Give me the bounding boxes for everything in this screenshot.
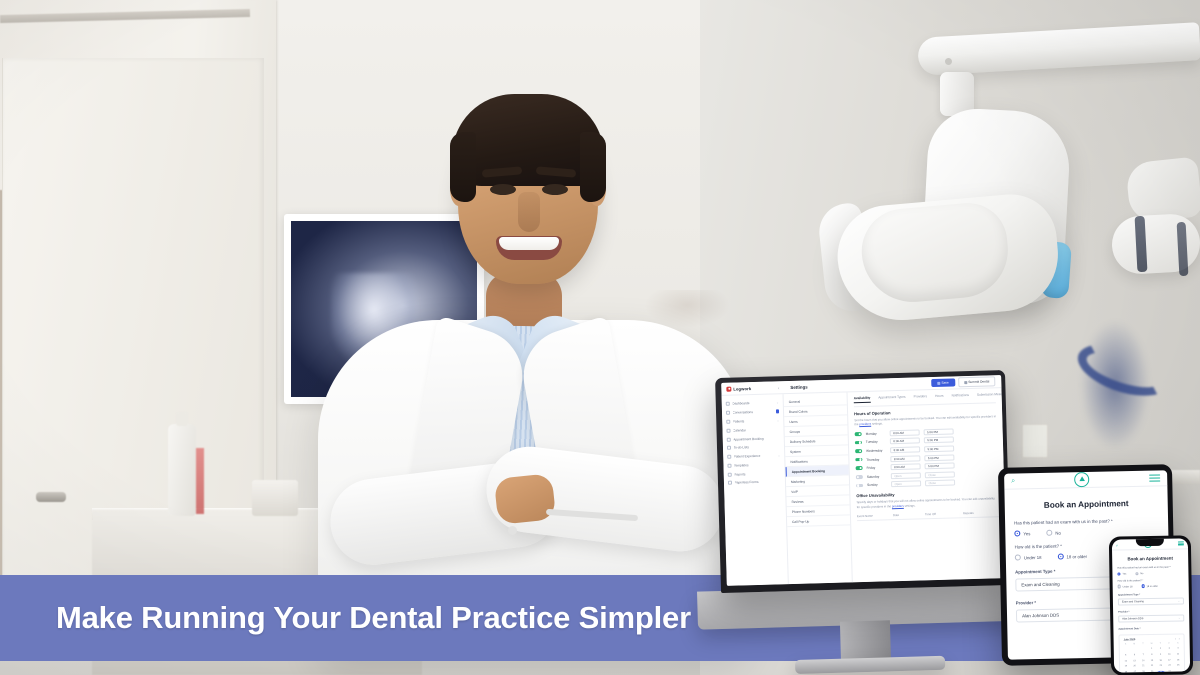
close-time-field[interactable]: Close xyxy=(925,471,955,478)
calendar-month-label: July 2020 xyxy=(1124,638,1136,641)
calendar-day[interactable]: 7 xyxy=(1139,654,1147,657)
open-time-field[interactable]: Open xyxy=(891,481,921,488)
calendar-day[interactable]: 22 xyxy=(1148,665,1156,668)
calendar-day[interactable]: 20 xyxy=(1131,665,1139,668)
clock-icon xyxy=(727,437,731,441)
users-icon xyxy=(726,420,730,424)
calendar-day[interactable]: 12 xyxy=(1122,660,1130,663)
phone-booking-heading: Book an Appointment xyxy=(1112,555,1188,561)
calendar-day[interactable]: 24 xyxy=(1166,664,1174,667)
sidebar-item-label: Templates xyxy=(734,463,749,467)
unav-desc-line2-post: settings. xyxy=(904,504,916,508)
calendar-day[interactable]: 13 xyxy=(1131,659,1139,662)
calendar-week-row: 19 20 21 22 23 24 25 xyxy=(1122,664,1182,668)
chevron-down-icon: ⌄ xyxy=(777,418,780,422)
tab-notifications[interactable]: Notifications xyxy=(952,393,970,400)
calendar-day[interactable]: 3 xyxy=(1165,647,1173,650)
phone-mockup: ⌕ ⛰ Book an Appointment Has this patient… xyxy=(1109,535,1193,675)
close-time-field[interactable]: 5:00 PM xyxy=(924,446,954,453)
hamburger-menu-icon[interactable] xyxy=(1178,541,1184,545)
booking-header-bar: ⌕ ⛰ xyxy=(1004,470,1167,489)
calendar-day[interactable]: 17 xyxy=(1165,659,1173,662)
calendar-day[interactable]: 16 xyxy=(1157,659,1165,662)
calendar-day[interactable]: 21 xyxy=(1139,665,1147,668)
day-toggle[interactable] xyxy=(855,458,862,462)
chevron-right-icon[interactable]: › xyxy=(1179,637,1180,640)
chevron-down-icon: ⌄ xyxy=(778,453,781,457)
phone-radio-exam-no[interactable]: No xyxy=(1135,572,1143,576)
app-brand: Legwork ‹ xyxy=(721,385,783,392)
radio-dot-selected xyxy=(1117,572,1120,575)
radio-label: 18 or older xyxy=(1066,553,1087,558)
hours-section-description: Set the hours that you allow online appo… xyxy=(854,414,996,428)
providers-link[interactable]: providers xyxy=(892,504,904,508)
phone-screen: ⌕ ⛰ Book an Appointment Has this patient… xyxy=(1112,538,1190,672)
calendar-header: July 2020 ‹ › xyxy=(1122,637,1182,641)
prior-exam-radio-group: Yes No xyxy=(1014,527,1159,536)
day-label: Saturday xyxy=(867,474,887,479)
day-toggle[interactable] xyxy=(856,484,863,488)
calendar-dow-row: S M T W T F S xyxy=(1122,643,1182,646)
calendar-day[interactable]: 18 xyxy=(1174,659,1182,662)
legwork-logo-icon xyxy=(726,386,731,391)
hero-image: Make Running Your Dental Practice Simple… xyxy=(0,0,1200,675)
calendar-day[interactable]: 5 xyxy=(1122,654,1130,657)
app-header-actions: Save Summit Dental xyxy=(931,377,1002,388)
calendar-day[interactable]: 6 xyxy=(1131,654,1139,657)
sidebar-item-label: Conversations xyxy=(732,410,752,415)
day-toggle[interactable] xyxy=(855,432,862,436)
template-icon xyxy=(727,464,731,468)
save-button[interactable]: Save xyxy=(931,379,955,387)
radio-dot xyxy=(1118,585,1121,588)
sidebar-item-label: Paperless Forms xyxy=(734,480,758,485)
radio-label: No xyxy=(1055,530,1061,535)
app-body: Dashboards ⌄ Conversations xyxy=(722,388,1007,586)
form-icon xyxy=(728,481,732,485)
open-time-field[interactable]: Open xyxy=(891,472,921,479)
calendar-day[interactable]: 2 xyxy=(1157,648,1165,651)
mountain-logo-icon: ⛰ xyxy=(1075,472,1090,487)
settings-content: Availability Appointment Types Providers… xyxy=(848,388,1007,582)
monitor-screen: Legwork ‹ Settings Save xyxy=(721,375,1007,586)
sidebar-item-label: Appointment Booking xyxy=(733,436,763,441)
heart-icon xyxy=(727,455,731,459)
date-picker-calendar: July 2020 ‹ › S M T W xyxy=(1118,633,1185,672)
sidebar-item-label: Calendar xyxy=(733,428,746,432)
calendar-day[interactable]: 4 xyxy=(1174,647,1182,650)
phone-age-radio-group: Under 18 18 or older xyxy=(1118,584,1184,589)
unavailability-table-header: Event Name Date Time Off Repeats xyxy=(857,511,999,522)
chat-icon xyxy=(726,411,730,415)
settings-submenu: General Brand Colors Users Groups Delive… xyxy=(784,392,853,584)
close-time-field[interactable]: 5:00 PM xyxy=(924,454,954,461)
column-repeats: Repeats xyxy=(963,511,993,516)
calendar-day[interactable]: 23 xyxy=(1157,665,1165,668)
radio-dot-selected xyxy=(1141,584,1144,587)
legwork-settings-app: Legwork ‹ Settings Save xyxy=(721,375,1007,586)
calendar-week-row: 26 27 28 29 30 31 xyxy=(1122,670,1182,673)
close-time-field[interactable]: 5:00 PM xyxy=(924,428,954,435)
close-time-field[interactable]: 5:00 PM xyxy=(925,463,955,470)
search-icon[interactable]: ⌕ xyxy=(1011,477,1015,485)
calendar-day[interactable]: 26 xyxy=(1122,671,1130,673)
calendar-nav: ‹ › xyxy=(1175,637,1180,640)
tab-submission-message[interactable]: Submission Message xyxy=(977,392,1007,400)
radio-exam-yes[interactable]: Yes xyxy=(1014,530,1030,536)
open-time-field[interactable]: 8:00 AM xyxy=(890,455,920,462)
practice-selector-label: Summit Dental xyxy=(968,379,989,384)
day-label: Tuesday xyxy=(866,440,886,445)
tab-hours[interactable]: Hours xyxy=(935,394,944,401)
radio-age-under-18[interactable]: Under 18 xyxy=(1015,554,1042,561)
calendar-week-row: 5 6 7 8 9 10 11 xyxy=(1122,653,1182,657)
dow-label: T xyxy=(1139,643,1147,645)
radio-label: Yes xyxy=(1122,572,1126,575)
open-time-field[interactable]: 8:00 AM xyxy=(890,429,920,436)
day-toggle[interactable] xyxy=(855,449,862,453)
settings-item-call-popup[interactable]: Call Pop-Up xyxy=(787,515,850,527)
save-button-label: Save xyxy=(941,381,948,385)
page-title: Settings xyxy=(783,384,807,390)
phone-appointment-type-label: Appointment Type * xyxy=(1118,592,1184,596)
phone-radio-age-under-18[interactable]: Under 18 xyxy=(1118,585,1133,589)
mountain-glyph: ⛰ xyxy=(1079,476,1085,483)
sidebar-item-paperless-forms[interactable]: Paperless Forms xyxy=(724,477,785,487)
chevron-left-icon[interactable]: ‹ xyxy=(1175,637,1176,640)
day-label: Monday xyxy=(866,431,886,436)
phone-booking-form: Has this patient had an exam with us in … xyxy=(1112,565,1190,672)
day-toggle[interactable] xyxy=(856,466,863,470)
sidebar-item-label: Dashboards xyxy=(732,402,749,406)
check-icon xyxy=(727,446,731,450)
calendar-day-selected[interactable]: 30 xyxy=(1157,670,1165,672)
calendar-day[interactable]: 31 xyxy=(1166,670,1174,673)
calendar-day[interactable]: 11 xyxy=(1174,653,1182,656)
question-prior-exam: Has this patient had an exam with us in … xyxy=(1014,517,1159,525)
radio-label: Under 18 xyxy=(1123,585,1133,588)
day-label: Thursday xyxy=(866,457,886,462)
hours-desc-line2-post: settings. xyxy=(871,422,883,426)
sidebar-item-label: Patients xyxy=(733,419,745,423)
close-time-field[interactable]: 5:00 PM xyxy=(924,437,954,444)
calendar-day[interactable]: 19 xyxy=(1122,665,1130,668)
unread-badge xyxy=(776,410,779,413)
tab-appointment-types[interactable]: Appointment Types xyxy=(878,395,905,403)
phone-radio-exam-yes[interactable]: Yes xyxy=(1117,572,1126,576)
dow-label: S xyxy=(1174,643,1182,645)
phone-provider-label: Provider * xyxy=(1118,609,1184,613)
open-time-field[interactable]: 8:00 AM xyxy=(890,438,920,445)
hours-desc-line1: Set the hours that you allow online appo… xyxy=(854,414,970,421)
home-icon xyxy=(726,402,730,406)
hours-row: Sunday Open Close xyxy=(856,479,998,489)
appointment-type-value: Exam and Cleaning xyxy=(1021,582,1059,588)
phone-body: ⌕ ⛰ Book an Appointment Has this patient… xyxy=(1109,535,1193,675)
phone-appointment-type-select[interactable]: Exam and Cleaning ⌄ xyxy=(1118,597,1184,605)
dow-label: M xyxy=(1130,644,1138,646)
sidebar-item-label: Reports xyxy=(734,472,745,476)
calendar-day xyxy=(1130,648,1138,651)
radio-label: 18 or older xyxy=(1146,584,1157,587)
main-sidebar: Dashboards ⌄ Conversations xyxy=(722,394,789,586)
calendar-day[interactable]: 25 xyxy=(1174,664,1182,667)
calendar-day xyxy=(1139,648,1147,651)
sidebar-item-label: To-do Lists xyxy=(733,445,749,449)
calendar-day xyxy=(1122,648,1130,651)
settings-tabs: Availability Appointment Types Providers… xyxy=(854,392,996,406)
column-event-name: Event Name xyxy=(857,513,893,518)
calendar-day[interactable]: 29 xyxy=(1148,670,1156,672)
radio-dot xyxy=(1015,554,1021,560)
unavailability-description: Specify days or holidays that you will n… xyxy=(857,497,999,511)
chevron-down-icon: ⌄ xyxy=(1178,599,1180,602)
office-unavailability-section: Office Unavailability Specify days or ho… xyxy=(856,490,999,522)
calendar-day[interactable]: 9 xyxy=(1157,653,1165,656)
calendar-week-row: 1 2 3 4 xyxy=(1122,647,1182,651)
calendar-day[interactable]: 8 xyxy=(1148,653,1156,656)
provider-value: Alan Johnson DDS xyxy=(1022,613,1059,619)
calendar-day[interactable]: 28 xyxy=(1140,671,1148,673)
provider-value: Alan Johnson DDS xyxy=(1122,617,1143,620)
dow-label: T xyxy=(1157,643,1165,645)
calendar-week-row: 12 13 14 15 16 17 18 xyxy=(1122,659,1182,663)
radio-dot xyxy=(1135,572,1138,575)
calendar-day[interactable]: 27 xyxy=(1131,671,1139,673)
booking-heading: Book an Appointment xyxy=(1005,498,1168,510)
device-mockups: Legwork ‹ Settings Save xyxy=(0,0,1200,675)
practice-selector-button[interactable]: Summit Dental xyxy=(958,377,996,387)
calendar-day[interactable]: 15 xyxy=(1148,659,1156,662)
desktop-monitor-mockup: Legwork ‹ Settings Save xyxy=(715,370,1011,593)
radio-label: Yes xyxy=(1023,531,1030,536)
phone-prior-exam-radio-group: Yes No xyxy=(1117,571,1183,576)
radio-dot xyxy=(1046,530,1052,536)
calendar-day[interactable]: 14 xyxy=(1139,659,1147,662)
save-icon xyxy=(937,381,940,384)
appointment-type-value: Exam and Cleaning xyxy=(1122,600,1144,603)
dow-label: F xyxy=(1165,643,1173,645)
open-time-field[interactable]: 8:00 AM xyxy=(890,446,920,453)
building-icon xyxy=(964,381,967,384)
brand-name: Legwork xyxy=(733,386,751,391)
day-label: Sunday xyxy=(867,483,887,488)
phone-question-age: How old is the patient? * xyxy=(1118,578,1184,582)
day-label: Friday xyxy=(867,466,887,471)
day-toggle[interactable] xyxy=(856,475,863,479)
calendar-day xyxy=(1174,670,1182,673)
phone-provider-select[interactable]: Alan Johnson DDS ⌄ xyxy=(1118,614,1184,622)
radio-age-18-or-older[interactable]: 18 or older xyxy=(1057,553,1087,560)
search-icon[interactable]: ⌕ xyxy=(1116,542,1118,547)
phone-date-label: Appointment Date * xyxy=(1118,626,1184,630)
radio-exam-no[interactable]: No xyxy=(1046,530,1061,536)
monitor-bezel: Legwork ‹ Settings Save xyxy=(715,370,1011,593)
phone-question-prior-exam: Has this patient had an exam with us in … xyxy=(1117,565,1183,569)
phone-radio-age-18-or-older[interactable]: 18 or older xyxy=(1141,584,1157,588)
phone-notch xyxy=(1136,539,1164,546)
chevron-down-icon: ⌄ xyxy=(776,401,779,405)
day-toggle[interactable] xyxy=(855,441,862,445)
open-time-field[interactable]: 8:00 AM xyxy=(891,464,921,471)
dow-label: W xyxy=(1148,643,1156,645)
calendar-icon xyxy=(726,428,730,432)
radio-label: Under 18 xyxy=(1024,554,1042,559)
tab-providers[interactable]: Providers xyxy=(914,394,928,401)
providers-link[interactable]: providers xyxy=(859,422,871,426)
hours-of-operation-list: Monday 8:00 AM 5:00 PM Tuesday 8:00 AM 5… xyxy=(855,427,999,489)
dow-label: S xyxy=(1122,644,1130,646)
close-time-field[interactable]: Close xyxy=(925,480,955,487)
radio-dot-selected xyxy=(1057,553,1063,559)
sidebar-item-label: Patient Experience xyxy=(734,454,761,459)
column-time-off: Time Off xyxy=(925,512,963,517)
monitor-stand-base xyxy=(795,656,945,674)
column-date: Date xyxy=(893,513,925,518)
calendar-day[interactable]: 1 xyxy=(1148,648,1156,651)
tab-availability[interactable]: Availability xyxy=(854,396,871,403)
radio-dot-selected xyxy=(1014,530,1020,536)
day-label: Wednesday xyxy=(866,448,886,453)
chevron-down-icon: ⌄ xyxy=(1178,616,1180,619)
calendar-day[interactable]: 10 xyxy=(1165,653,1173,656)
hamburger-menu-icon[interactable] xyxy=(1149,474,1160,482)
chart-icon xyxy=(728,472,732,476)
radio-label: No xyxy=(1140,572,1143,575)
